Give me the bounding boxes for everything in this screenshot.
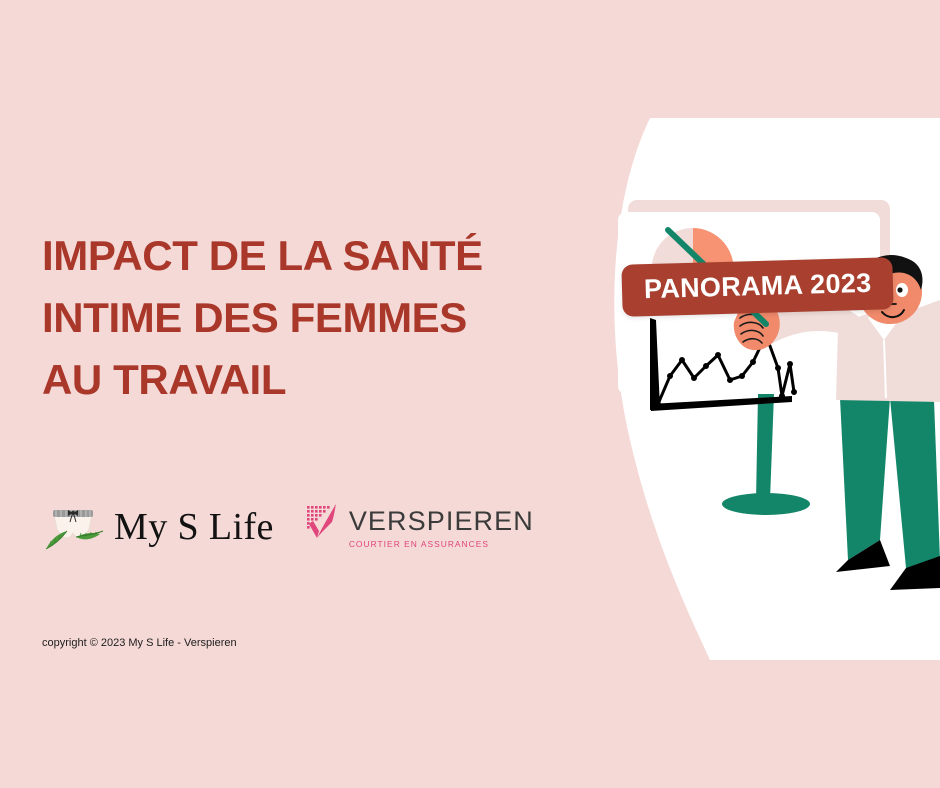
headline-line-1: IMPACT DE LA SANTÉ [42,232,562,280]
slide-canvas: PANORAMA 2023 IMPACT DE LA SANTÉ INTIME … [0,0,940,788]
panorama-badge: PANORAMA 2023 [621,257,894,317]
page-title: IMPACT DE LA SANTÉ INTIME DES FEMMES AU … [42,232,562,404]
my-s-life-logo: My S Life [42,501,274,553]
headline-line-3: AU TRAVAIL [42,356,562,404]
verspieren-mark-icon [306,504,346,548]
verspieren-tagline: COURTIER EN ASSURANCES [349,538,534,550]
verspieren-text-block: VERSPIEREN COURTIER EN ASSURANCES [349,504,534,550]
my-s-life-wordmark: My S Life [114,507,274,547]
headline-line-2: INTIME DES FEMMES [42,294,562,342]
verspieren-logo: VERSPIEREN COURTIER EN ASSURANCES [306,504,534,550]
logo-strip: My S Life [42,496,534,558]
character-pupil-right [897,287,902,292]
panorama-badge-label: PANORAMA 2023 [621,257,894,317]
presenter-with-charts-illustration [590,0,940,788]
copyright-notice: copyright © 2023 My S Life - Verspieren [42,636,237,650]
underwear-fern-icon [42,501,104,553]
verspieren-wordmark: VERSPIEREN [349,508,534,535]
easel-base [722,493,810,515]
